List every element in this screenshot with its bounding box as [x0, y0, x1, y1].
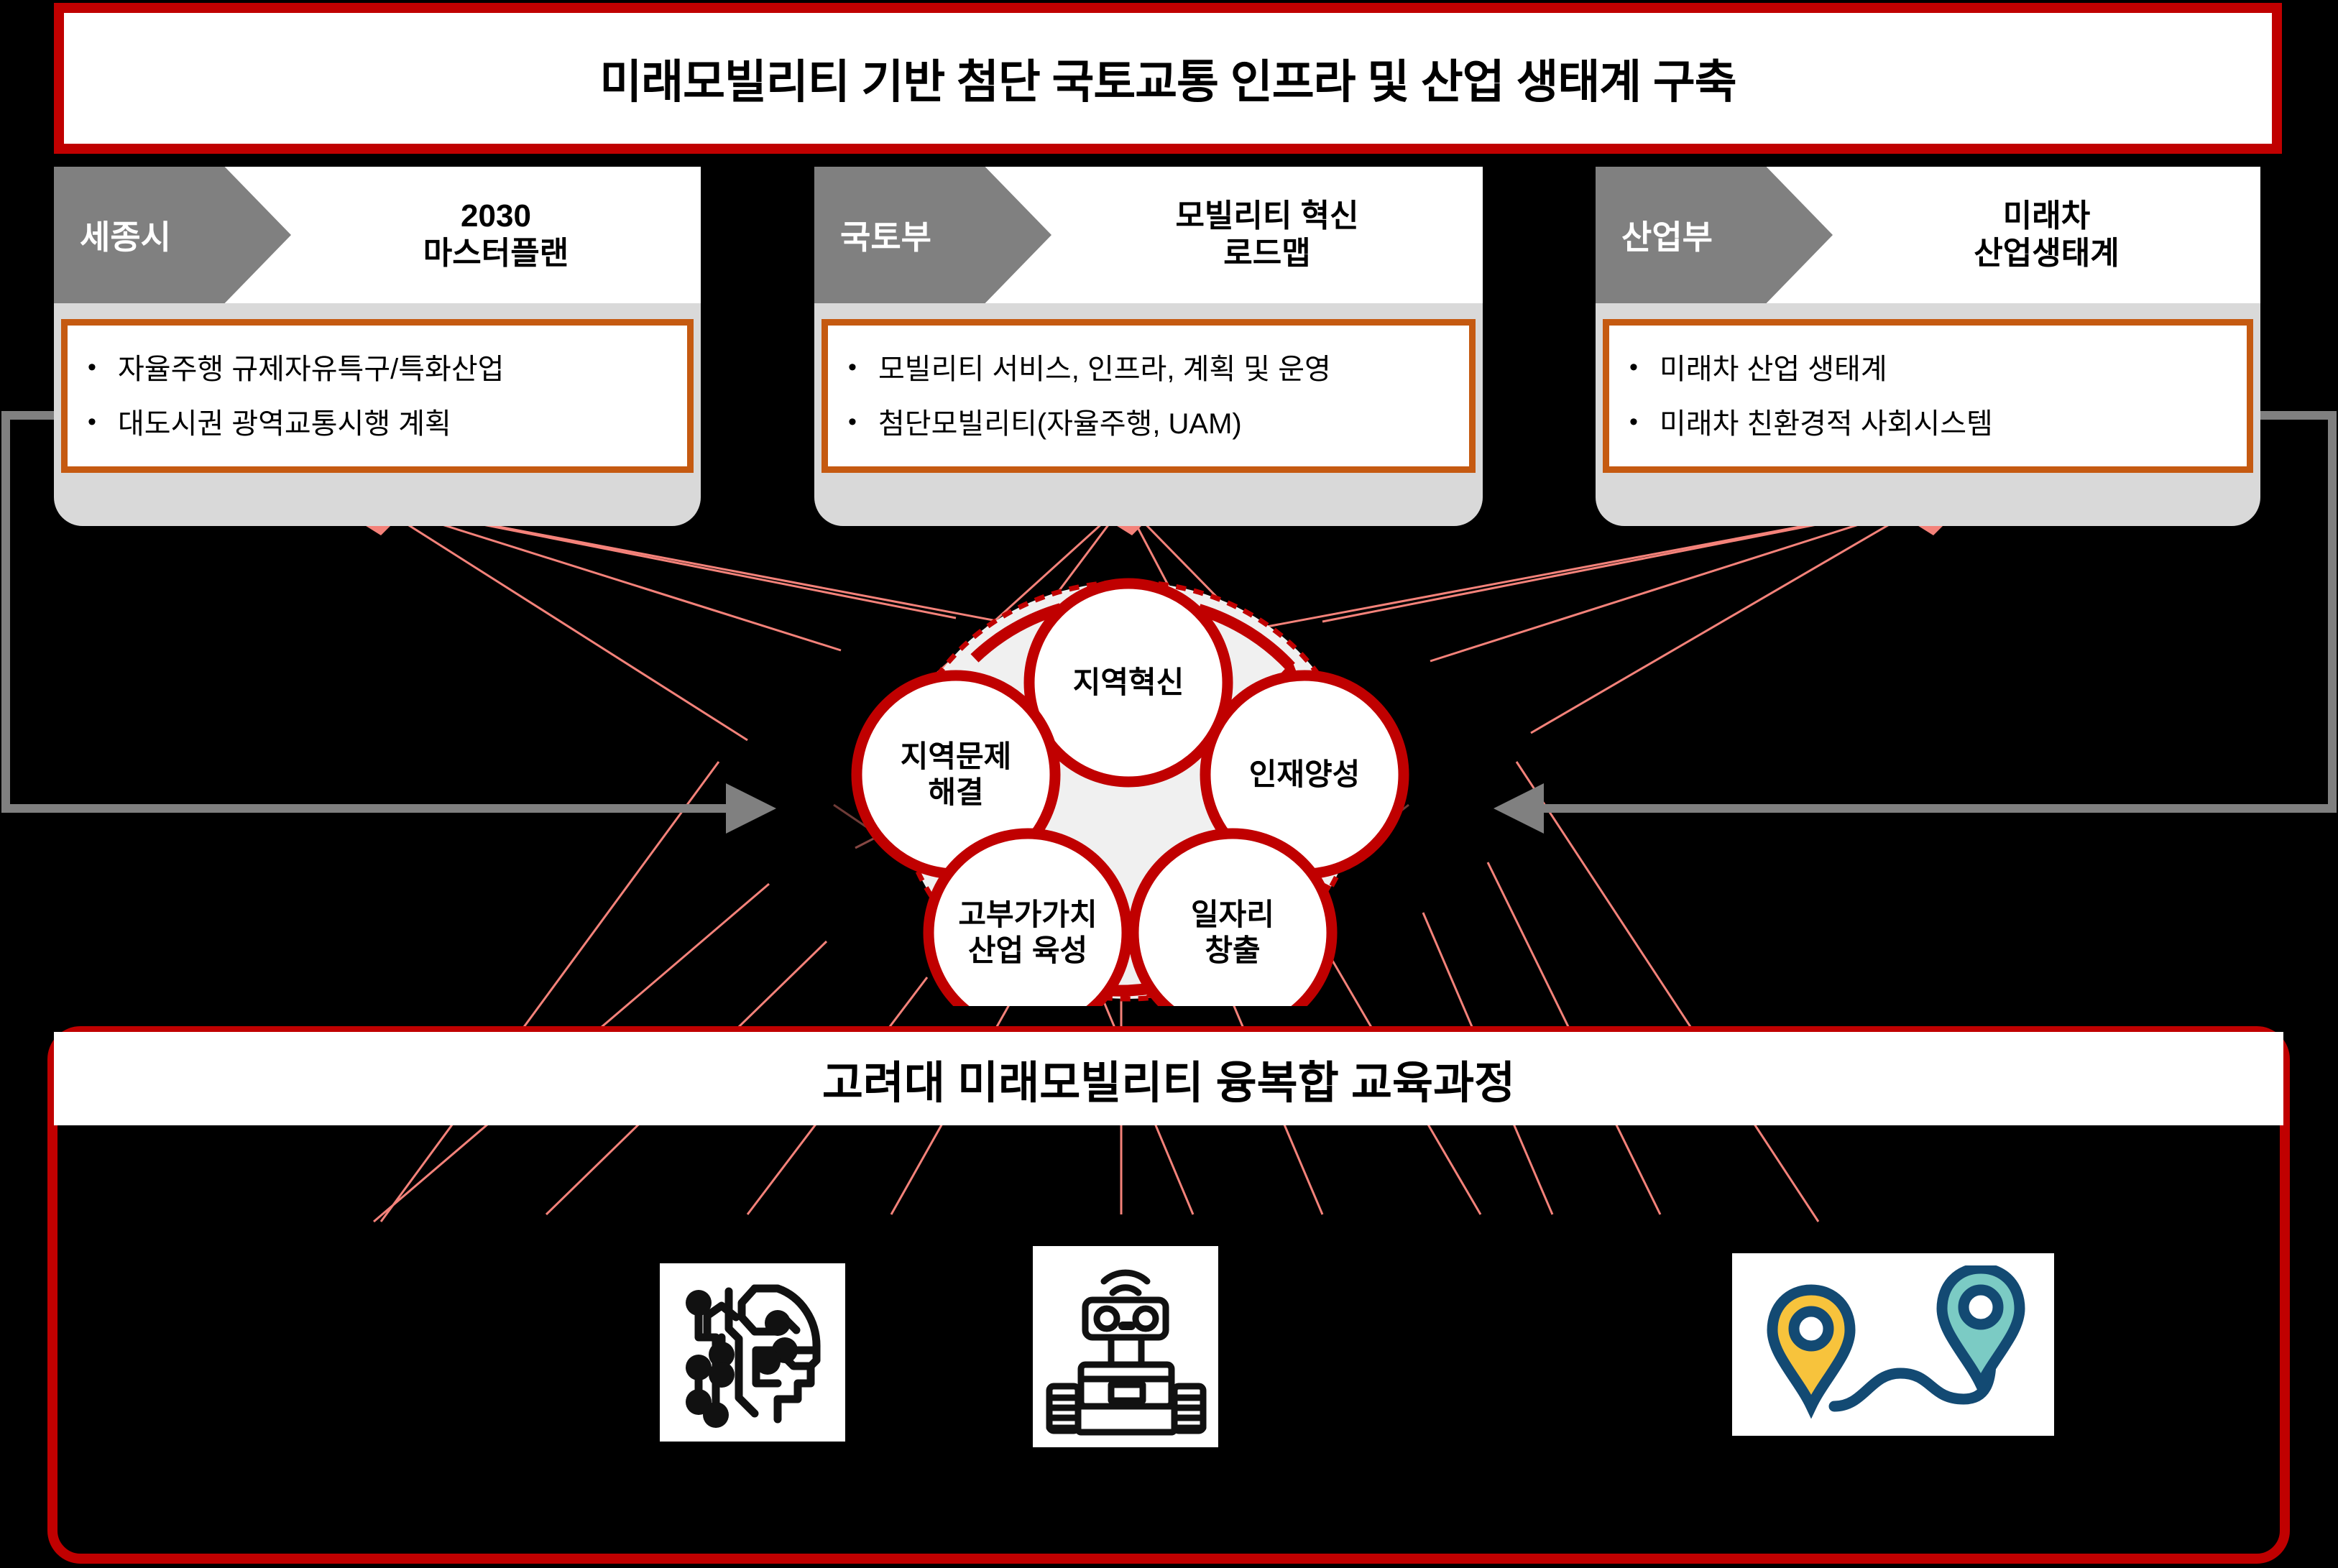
diagram-canvas: 미래모빌리티 기반 첨단 국토교통 인프라 및 산업 생태계 구축 세종시 20… — [0, 0, 2338, 1568]
bullet-dot-icon: • — [88, 405, 118, 440]
cluster-circle-high-value-industry — [929, 834, 1127, 1006]
bullet-box-sejong: • 자율주행 규제자유특구/특화산업 • 대도시권 광역교통시행 계획 — [61, 319, 694, 473]
map-route-pins-icon — [1732, 1253, 2054, 1436]
bullet-box-motie: • 미래차 산업 생태계 • 미래차 친환경적 사회시스템 — [1603, 319, 2253, 473]
program-title-line1: 미래차 — [2003, 198, 2090, 235]
program-title-line2: 산업생태계 — [1974, 235, 2119, 272]
bullet-dot-icon: • — [848, 350, 878, 385]
program-title-sejong: 2030 마스터플랜 — [291, 167, 701, 303]
bullet-text: 모빌리티 서비스, 인프라, 계획 및 운영 — [878, 350, 1331, 389]
program-title-motie: 미래차 산업생태계 — [1833, 167, 2260, 303]
curriculum-title: 고려대 미래모빌리티 융복합 교육과정 — [822, 1046, 1515, 1111]
program-title-line1: 모빌리티 혁신 — [1175, 198, 1358, 235]
bullet-box-molit: • 모빌리티 서비스, 인프라, 계획 및 운영 • 첨단모빌리티(자율주행, … — [821, 319, 1476, 473]
list-item: • 자율주행 규제자유특구/특화산업 — [88, 350, 673, 389]
chevron-shape-molit: 국토부 — [814, 167, 1051, 303]
agency-label-sejong: 세종시 — [54, 211, 171, 259]
chevron-header: 세종시 2030 마스터플랜 — [54, 167, 701, 303]
chevron-header: 국토부 모빌리티 혁신 로드맵 — [814, 167, 1483, 303]
main-title-banner: 미래모빌리티 기반 첨단 국토교통 인프라 및 산업 생태계 구축 — [54, 3, 2282, 154]
bullet-text: 첨단모빌리티(자율주행, UAM) — [878, 405, 1242, 443]
bullet-dot-icon: • — [1629, 405, 1660, 440]
list-item: • 대도시권 광역교통시행 계획 — [88, 405, 673, 443]
chevron-header: 산업부 미래차 산업생태계 — [1596, 167, 2260, 303]
bullet-text: 대도시권 광역교통시행 계획 — [118, 405, 451, 443]
list-item: • 첨단모빌리티(자율주행, UAM) — [848, 405, 1455, 443]
cluster-circle-job-creation — [1133, 834, 1332, 1006]
chevron-shape-sejong: 세종시 — [54, 167, 291, 303]
bullet-text: 미래차 산업 생태계 — [1660, 350, 1887, 389]
bullet-dot-icon: • — [1629, 350, 1660, 385]
core-value-cluster: 지역혁신 지역문제 해결 인재양성 고부가가치 산업 육성 일자리 창출 — [676, 575, 1581, 1006]
list-item: • 모빌리티 서비스, 인프라, 계획 및 운영 — [848, 350, 1455, 389]
bullet-dot-icon: • — [848, 405, 878, 440]
bullet-text: 자율주행 규제자유특구/특화산업 — [118, 350, 504, 389]
agency-label-motie: 산업부 — [1596, 211, 1713, 259]
program-title-line2: 로드맵 — [1223, 235, 1310, 272]
program-title-molit: 모빌리티 혁신 로드맵 — [1051, 167, 1483, 303]
robot-rover-wifi-icon — [1033, 1246, 1218, 1447]
bullet-text: 미래차 친환경적 사회시스템 — [1660, 405, 1993, 443]
program-title-line1: 2030 — [461, 198, 531, 235]
program-title-line2: 마스터플랜 — [423, 235, 569, 272]
agency-label-molit: 국토부 — [814, 211, 931, 259]
list-item: • 미래차 산업 생태계 — [1629, 350, 2232, 389]
ai-brain-circuit-icon — [660, 1263, 845, 1442]
chevron-shape-motie: 산업부 — [1596, 167, 1833, 303]
page-title: 미래모빌리티 기반 첨단 국토교통 인프라 및 산업 생태계 구축 — [599, 45, 1736, 111]
bullet-dot-icon: • — [88, 350, 118, 385]
cluster-circle-regional-innovation — [1029, 584, 1228, 782]
main-title-inner: 미래모빌리티 기반 첨단 국토교통 인프라 및 산업 생태계 구축 — [64, 13, 2272, 144]
list-item: • 미래차 친환경적 사회시스템 — [1629, 405, 2232, 443]
curriculum-banner: 고려대 미래모빌리티 융복합 교육과정 — [54, 1032, 2283, 1125]
